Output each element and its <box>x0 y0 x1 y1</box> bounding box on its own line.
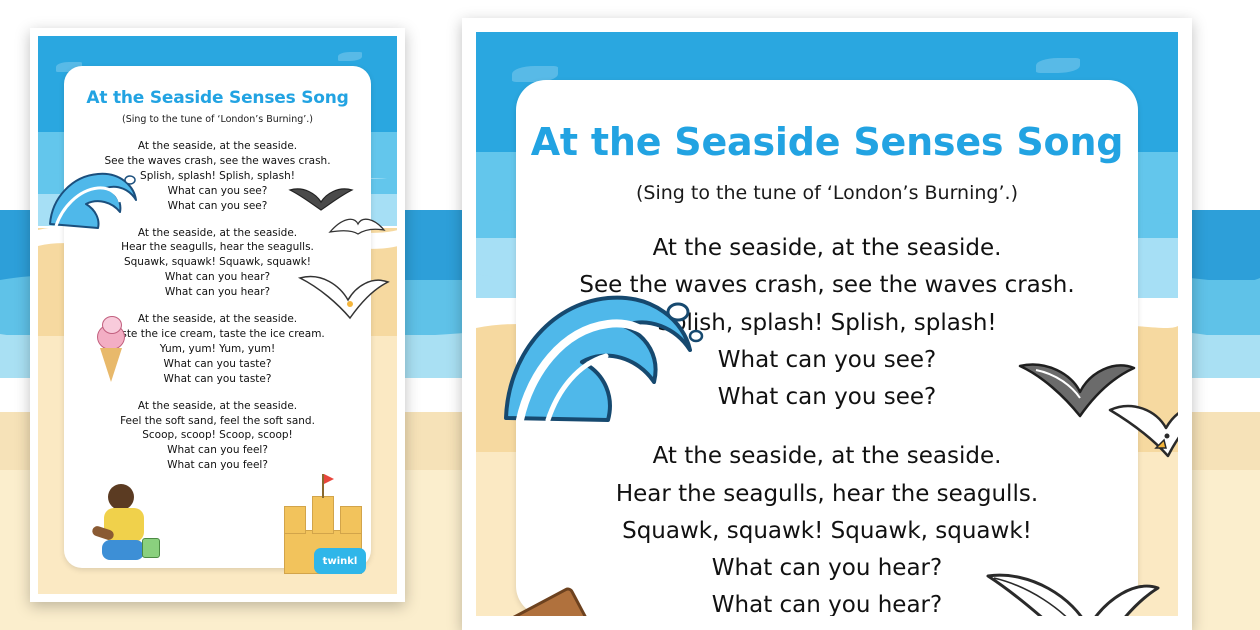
fish-silhouette-icon <box>338 52 362 61</box>
verse-feel: At the seaside, at the seaside. Feel the… <box>64 399 371 474</box>
page-subtitle: (Sing to the tune of ‘London’s Burning’.… <box>516 182 1138 204</box>
twinkl-logo[interactable]: twinkl <box>314 548 366 574</box>
poster-large-inner: At the Seaside Senses Song (Sing to the … <box>476 32 1178 616</box>
verse-line: Hear the seagulls, hear the seagulls. <box>64 240 371 255</box>
verse-line: What can you feel? <box>64 458 371 473</box>
poster-small-inner: At the Seaside Senses Song (Sing to the … <box>38 36 397 594</box>
page-title: At the Seaside Senses Song <box>516 120 1138 164</box>
verse-line: Scoop, scoop! Scoop, scoop! <box>64 428 371 443</box>
verse-line: What can you feel? <box>64 443 371 458</box>
screenshot-root: At the Seaside Senses Song (Sing to the … <box>0 0 1260 630</box>
seagull-icon <box>328 212 386 242</box>
seagull-icon <box>296 266 392 330</box>
poster-main-large[interactable]: At the Seaside Senses Song (Sing to the … <box>462 18 1192 630</box>
verse-line: Hear the seagulls, hear the seagulls. <box>516 476 1138 513</box>
ice-cream-cone-icon <box>90 324 134 386</box>
seagull-icon <box>1104 396 1178 470</box>
child-playing-in-sand-icon <box>86 482 166 574</box>
verse-line: Squawk, squawk! Squawk, squawk! <box>516 513 1138 550</box>
page-title-small: At the Seaside Senses Song <box>64 88 371 108</box>
verse-line: At the seaside, at the seaside. <box>64 139 371 154</box>
verse-line: At the seaside, at the seaside. <box>516 230 1138 267</box>
verse-line: At the seaside, at the seaside. <box>516 438 1138 475</box>
crashing-wave-icon <box>46 164 142 236</box>
fish-silhouette-icon <box>1036 58 1080 73</box>
seagull-icon <box>982 564 1162 616</box>
verse-line: Feel the soft sand, feel the soft sand. <box>64 414 371 429</box>
crashing-wave-icon <box>496 278 716 438</box>
poster-thumbnail-small[interactable]: At the Seaside Senses Song (Sing to the … <box>30 28 405 602</box>
verse-line: At the seaside, at the seaside. <box>64 399 371 414</box>
page-subtitle-small: (Sing to the tune of ‘London’s Burning’.… <box>64 114 371 125</box>
